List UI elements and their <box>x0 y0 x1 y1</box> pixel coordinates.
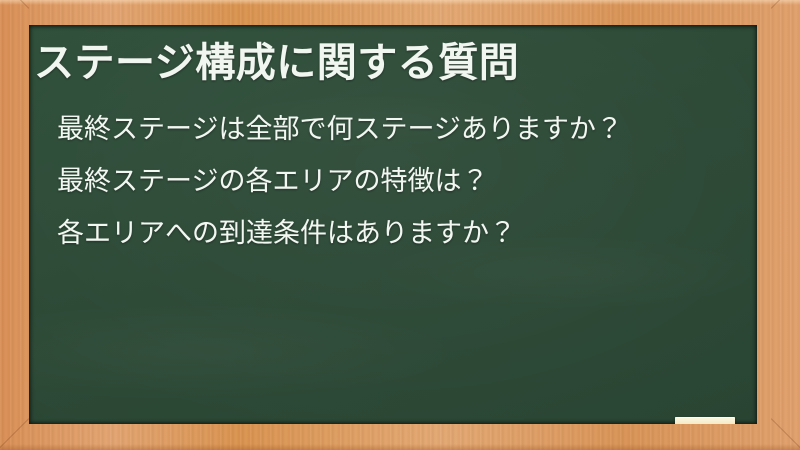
frame-bevel-bottom <box>0 444 800 450</box>
list-item: 最終ステージは全部で何ステージありますか？ <box>57 103 737 155</box>
slide-content: ステージ構成に関する質問 最終ステージは全部で何ステージありますか？ 最終ステー… <box>29 25 757 424</box>
chalk-stick <box>675 417 735 424</box>
list-item: 最終ステージの各エリアの特徴は？ <box>57 155 737 207</box>
chalkboard-slide: ステージ構成に関する質問 最終ステージは全部で何ステージありますか？ 最終ステー… <box>0 0 800 450</box>
frame-bevel-top <box>0 0 800 5</box>
list-item: 各エリアへの到達条件はありますか？ <box>57 207 737 259</box>
question-list: 最終ステージは全部で何ステージありますか？ 最終ステージの各エリアの特徴は？ 各… <box>57 103 737 259</box>
page-title: ステージ構成に関する質問 <box>34 30 519 88</box>
chalkboard-surface: ステージ構成に関する質問 最終ステージは全部で何ステージありますか？ 最終ステー… <box>29 25 757 424</box>
